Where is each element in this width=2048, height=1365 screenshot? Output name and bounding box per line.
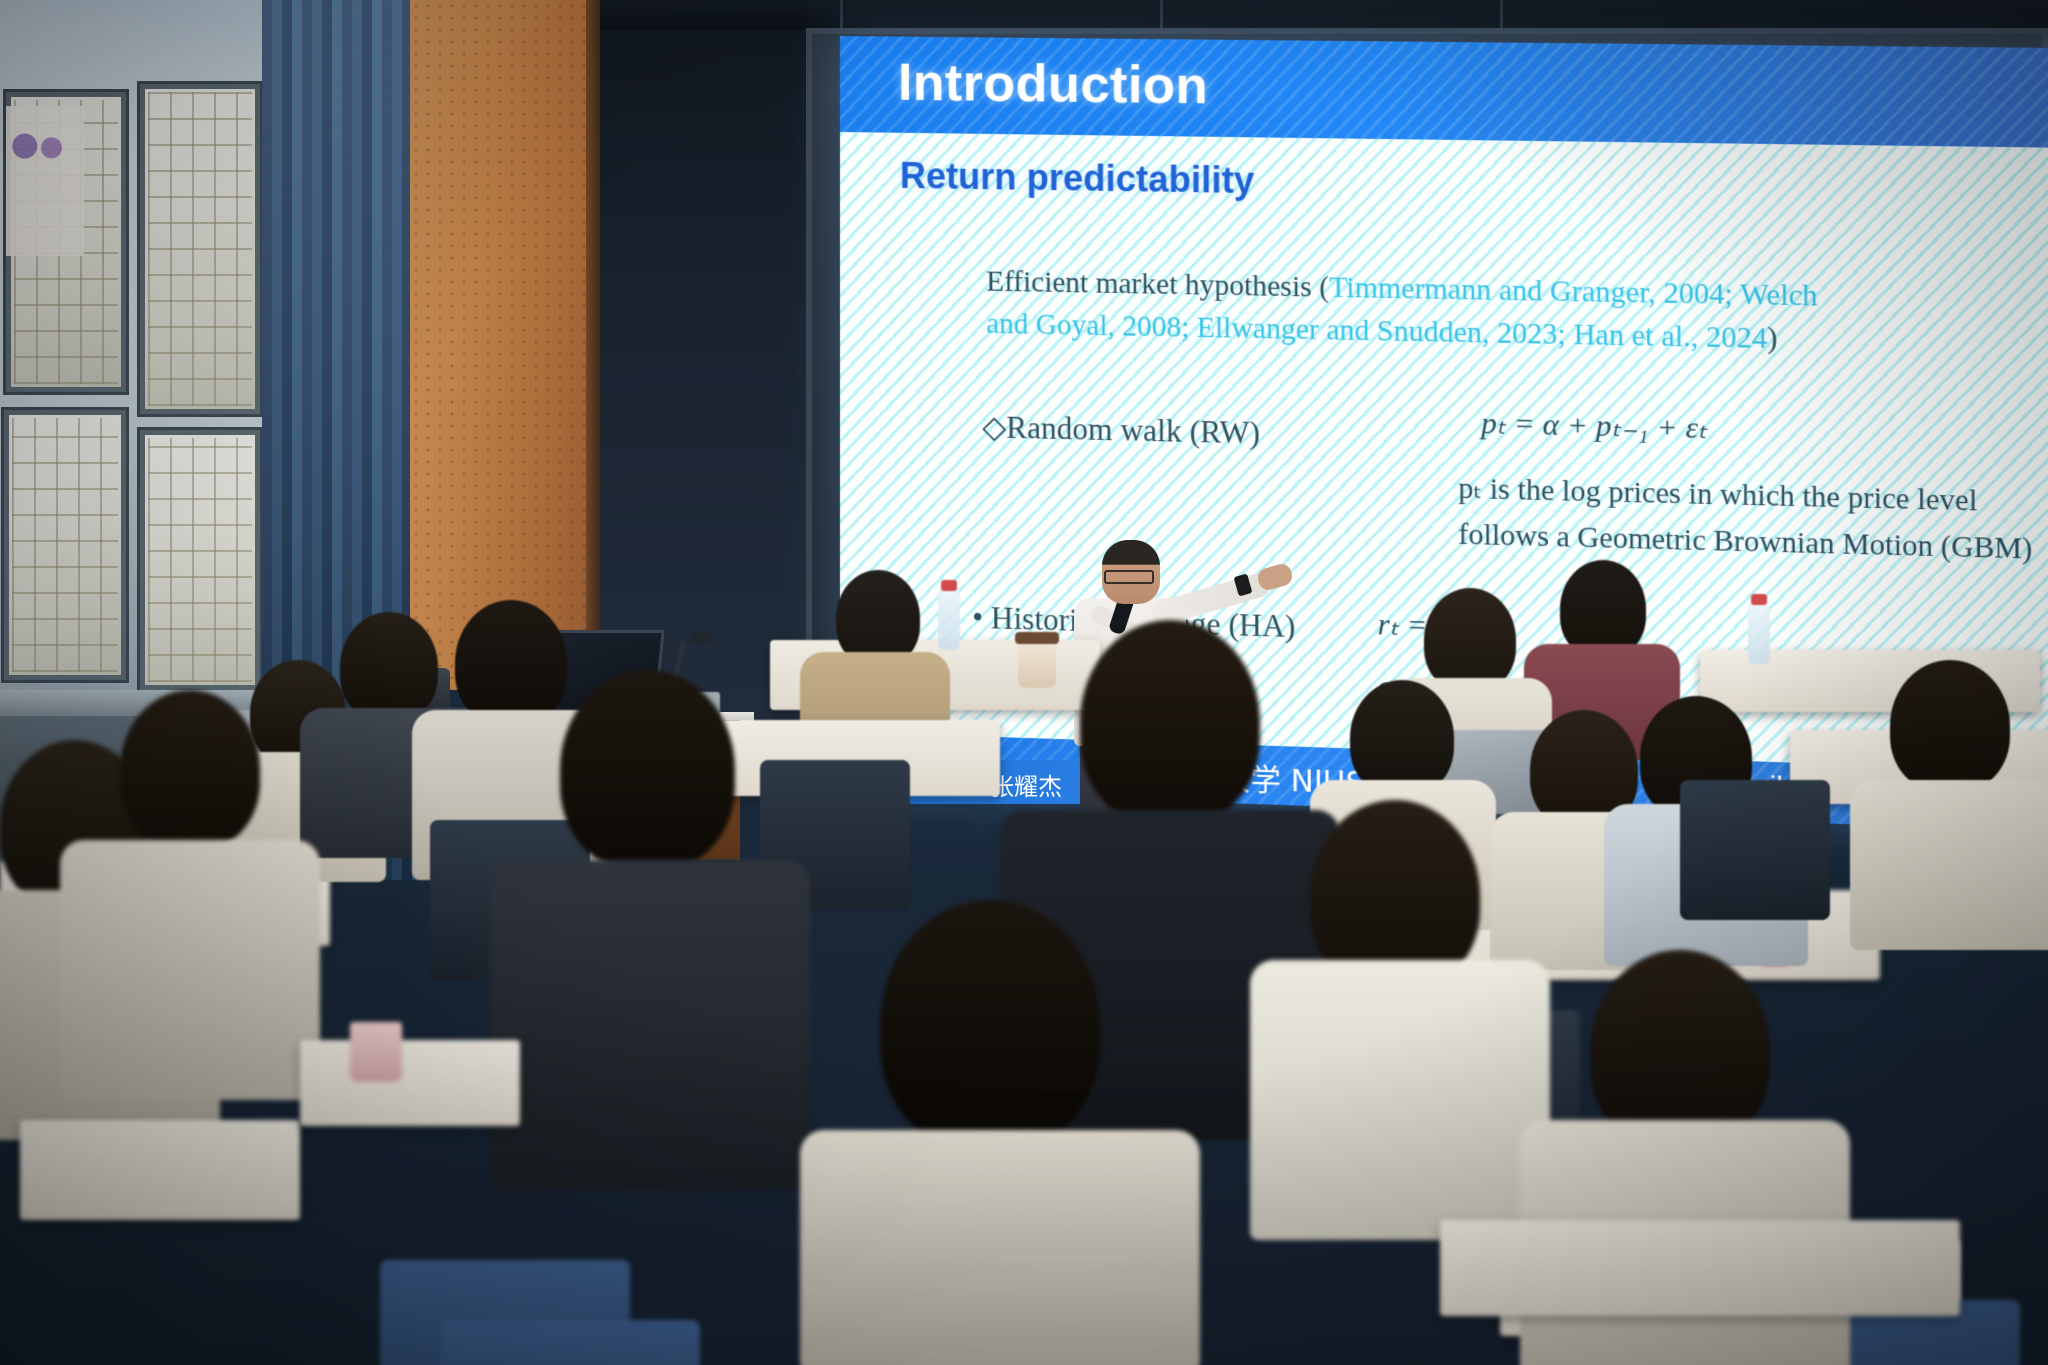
random-walk-explanation: pₜ is the log prices in which the price … [1458,466,2048,575]
bullet-random-walk: ◇Random walk (RW) [982,409,1260,451]
audience-head [1350,680,1454,796]
audience-head [1424,588,1516,692]
presenter-glasses [1104,570,1154,584]
water-bottle [938,588,960,650]
equation-random-walk: pₜ = α + pₜ₋₁ + εₜ [1481,406,1707,447]
window-poster [6,106,84,256]
explanation-line-2: follows a Geometric Brownian Motion (GBM… [1458,518,2032,565]
window-pane [140,84,260,414]
window-pane [140,430,260,690]
window-grid [12,418,118,672]
audience-head [455,600,567,726]
audience-head [1890,660,2010,792]
slide-subtitle: Return predictability [900,155,1254,202]
audience-head [120,690,260,850]
audience-torso [800,1130,1200,1365]
window-grid [148,92,252,406]
table-row [1440,1220,1960,1316]
wood-acoustic-panel [410,0,610,690]
audience-torso [1250,960,1550,1240]
chair [440,1320,700,1365]
emh-label: Efficient market hypothesis ( [986,266,1329,304]
window-grid [148,438,252,682]
citation-line-1: Timmermann and Granger, 2004; Welch [1329,271,1817,312]
audience-head [340,612,438,722]
explanation-line-1: pₜ is the log prices in which the price … [1458,472,1977,517]
chair [1680,780,1830,920]
audience-torso [490,860,810,1190]
efficient-market-hypothesis-paragraph: Efficient market hypothesis (Timmermann … [986,260,1908,363]
water-bottle [1748,602,1770,664]
podium-microphone-head [690,632,712,644]
audience-area [0,700,2048,1365]
audience-head [1080,620,1260,825]
table-row [300,1040,520,1126]
cup [350,1022,402,1082]
table-row [20,1120,300,1220]
window-pane [6,92,126,392]
audience-head [560,670,735,870]
citation-close-paren: ) [1767,322,1777,355]
slide-title: Introduction [898,53,1208,117]
bottle-cap [941,580,957,591]
audience-torso [60,840,320,1100]
lecture-hall-photo: Introduction Return predictability Effic… [0,0,2048,1365]
window-pane [4,410,126,680]
ceiling-strip [600,0,2048,30]
bottle-cap [1751,594,1767,605]
audience-head [880,900,1100,1150]
audience-torso [1850,780,2048,950]
coffee-cup-lid [1015,632,1059,644]
coffee-cup [1018,640,1056,688]
